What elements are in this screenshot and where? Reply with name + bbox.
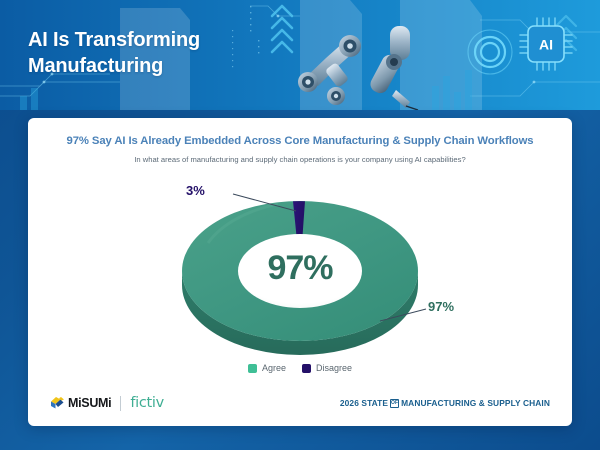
report-title-prefix: 2026 STATE xyxy=(340,398,388,408)
fictiv-wordmark[interactable]: fictiv xyxy=(130,395,164,411)
report-title-suffix: MANUFACTURING & SUPPLY CHAIN xyxy=(401,398,550,408)
report-title-of: OF xyxy=(390,399,399,408)
content-card: 97% Say AI Is Already Embedded Across Co… xyxy=(28,118,572,426)
donut-center-value: 97% xyxy=(238,249,362,288)
chart-subtitle: In what areas of manufacturing and suppl… xyxy=(28,155,572,164)
chart-legend: Agree Disagree xyxy=(28,363,572,373)
svg-text:AI: AI xyxy=(539,37,553,53)
chart-title: 97% Say AI Is Already Embedded Across Co… xyxy=(28,135,572,147)
card-footer: MiSUMi fictiv 2026 STATE OF MANUFACTURIN… xyxy=(28,380,572,426)
callout-label-agree: 97% xyxy=(428,299,454,314)
legend-label-disagree: Disagree xyxy=(316,363,352,373)
slide-canvas: AI AI Is Transforming Manufacturing 97% … xyxy=(0,0,600,450)
callout-label-disagree: 3% xyxy=(186,183,205,198)
header-banner: AI AI Is Transforming Manufacturing xyxy=(0,0,600,110)
misumi-cube-icon xyxy=(50,396,65,410)
report-title: 2026 STATE OF MANUFACTURING & SUPPLY CHA… xyxy=(340,398,550,408)
legend-item-disagree[interactable]: Disagree xyxy=(302,363,352,373)
misumi-logo[interactable]: MiSUMi xyxy=(50,396,111,410)
donut-chart: 97% 3% 97% xyxy=(28,173,572,373)
legend-label-agree: Agree xyxy=(262,363,286,373)
brand-lockup: MiSUMi fictiv xyxy=(50,395,164,411)
page-title: AI Is Transforming Manufacturing xyxy=(28,28,278,79)
legend-swatch-agree xyxy=(248,364,257,373)
brand-divider xyxy=(120,396,121,411)
legend-item-agree[interactable]: Agree xyxy=(248,363,286,373)
legend-swatch-disagree xyxy=(302,364,311,373)
misumi-wordmark: MiSUMi xyxy=(68,396,111,410)
